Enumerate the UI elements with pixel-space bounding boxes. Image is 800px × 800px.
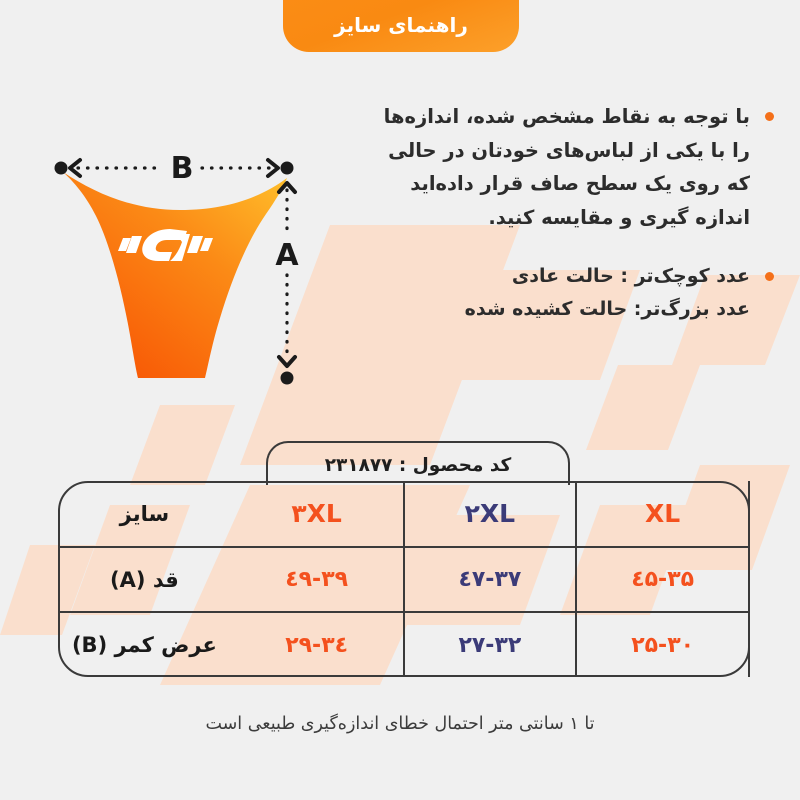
measure-a-indicator: A [275, 183, 299, 385]
cell-waist-xl: ۲۵-۳۰ [576, 612, 749, 677]
instruction-line: که روی یک سطح صاف قرار داده‌اید [306, 167, 750, 201]
instruction-line: عدد بزرگ‌تر: حالت کشیده شده [306, 293, 750, 326]
size-guide-header-tab: راهنمای سایز [283, 0, 519, 52]
instruction-line: اندازه گیری و مقایسه کنید. [306, 201, 750, 235]
cell-length-xl: ۳۵-٤۵ [576, 547, 749, 612]
header-cell-size: سایز [58, 481, 231, 547]
cell-length-3xl: ۳۹-٤۹ [231, 547, 404, 612]
product-code-tab: کد محصول : ۲۳۱۸۷۷ [266, 441, 570, 485]
product-illustration: B A [30, 130, 340, 410]
measurement-tolerance-note: تا ۱ سانتی متر احتمال خطای اندازه‌گیری ط… [0, 714, 800, 734]
instruction-bullet-measure: با توجه به نقاط مشخص شده، اندازه‌ها را ب… [306, 100, 776, 234]
cell-waist-3xl: ۲۹-۳٤ [231, 612, 404, 677]
row-label-waist: عرض کمر (B) [58, 612, 231, 677]
measure-b-indicator: B [55, 151, 294, 186]
row-label-length: قد (A) [58, 547, 231, 612]
instruction-line: با توجه به نقاط مشخص شده، اندازه‌ها [306, 100, 750, 134]
cell-waist-2xl: ۲۷-۳۲ [404, 612, 577, 677]
table-row: ۲۵-۳۰ ۲۷-۳۲ ۲۹-۳٤ عرض کمر (B) [58, 612, 749, 677]
size-table: XL ۲XL ۳XL سایز ۳۵-٤۵ ۳۷-٤۷ ۳۹-٤۹ قد (A)… [58, 481, 750, 677]
measure-a-label: A [275, 238, 299, 273]
garment-shape [63, 172, 287, 378]
instruction-bullet-range: عدد کوچک‌تر : حالت عادی عدد بزرگ‌تر: حال… [306, 260, 776, 327]
cell-length-2xl: ۳۷-٤۷ [404, 547, 577, 612]
instruction-line: عدد کوچک‌تر : حالت عادی [306, 260, 750, 293]
header-cell-xl: XL [576, 481, 749, 547]
header-cell-3xl: ۳XL [231, 481, 404, 547]
table-header-row: XL ۲XL ۳XL سایز [58, 481, 749, 547]
bullet-dot-icon [765, 272, 774, 281]
instruction-line: را با یکی از لباس‌های خودتان در حالی [306, 134, 750, 168]
measure-b-label: B [171, 151, 194, 186]
size-guide-page: راهنمای سایز [0, 0, 800, 800]
bullet-dot-icon [765, 112, 774, 121]
product-code-text: کد محصول : ۲۳۱۸۷۷ [325, 455, 512, 476]
header-cell-2xl: ۲XL [404, 481, 577, 547]
size-table-container: XL ۲XL ۳XL سایز ۳۵-٤۵ ۳۷-٤۷ ۳۹-٤۹ قد (A)… [58, 481, 750, 677]
page-title: راهنمای سایز [334, 15, 468, 38]
instructions-panel: با توجه به نقاط مشخص شده، اندازه‌ها را ب… [306, 100, 776, 327]
table-row: ۳۵-٤۵ ۳۷-٤۷ ۳۹-٤۹ قد (A) [58, 547, 749, 612]
